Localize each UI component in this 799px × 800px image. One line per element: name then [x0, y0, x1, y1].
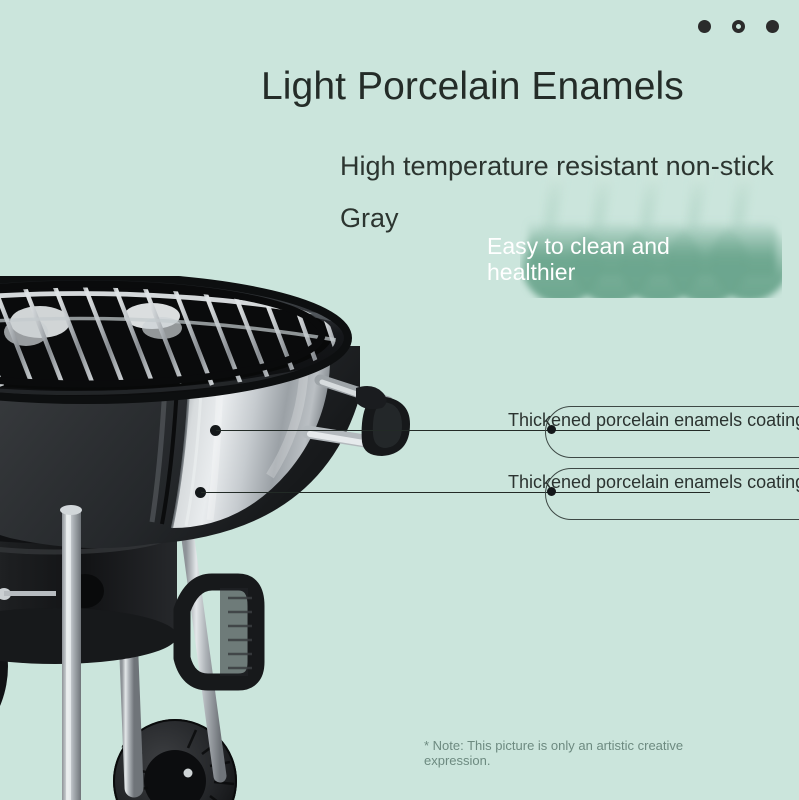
callout-label: Thickened porcelain enamels coating	[508, 472, 799, 492]
pagination-dots[interactable]	[698, 20, 779, 33]
product-image-bbq-grill	[0, 276, 410, 800]
center-post	[60, 505, 82, 800]
pagination-dot-1[interactable]	[698, 20, 711, 33]
callout-label: Thickened porcelain enamels coating	[508, 410, 799, 430]
disclaimer-note: * Note: This picture is only an artistic…	[424, 738, 744, 768]
callout-thickened-coating-lower: Thickened porcelain enamels coating	[195, 466, 782, 522]
lower-carry-handle	[182, 582, 256, 682]
pagination-dot-2[interactable]	[732, 20, 745, 33]
banner-subtitle: High temperature resistant non-stick Gra…	[340, 140, 799, 244]
callout-thickened-coating-upper: Thickened porcelain enamels coating	[210, 404, 782, 460]
product-feature-banner: Light Porcelain Enamels High temperature…	[0, 0, 799, 800]
banner-title: Light Porcelain Enamels	[261, 64, 684, 110]
bbq-grill-illustration	[0, 276, 410, 800]
banner-highlight-text: Easy to clean and healthier	[487, 233, 737, 285]
pagination-dot-3[interactable]	[766, 20, 779, 33]
